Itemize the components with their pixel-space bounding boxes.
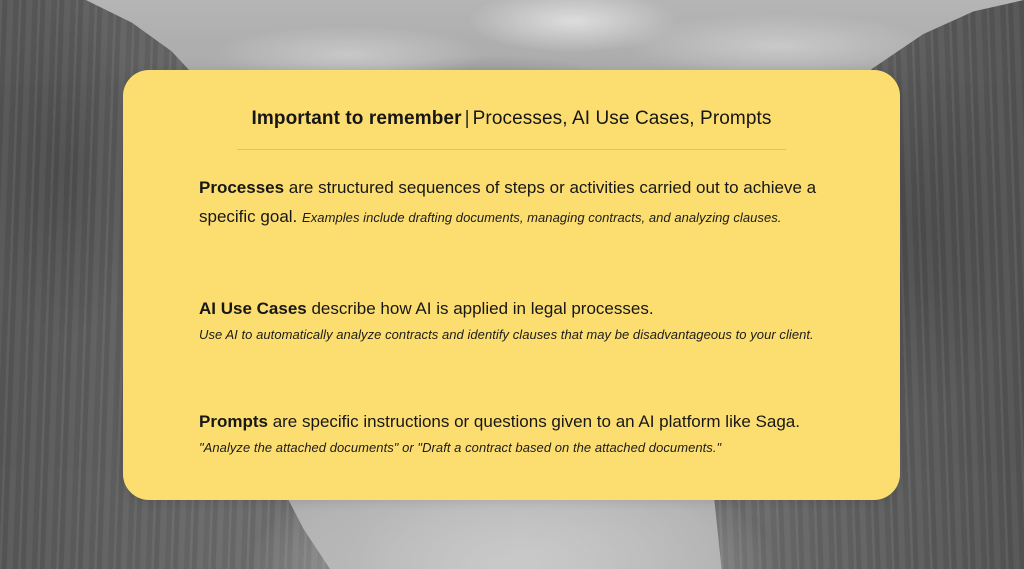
slide-screen: Important to remember|Processes, AI Use … <box>0 0 1024 569</box>
definition-lead-ai-use-cases: AI Use Cases <box>199 299 307 318</box>
card-title-rest: Processes, AI Use Cases, Prompts <box>473 108 772 129</box>
card-body: Processes are structured sequences of st… <box>199 173 840 458</box>
card-title: Important to remember|Processes, AI Use … <box>123 107 900 131</box>
definition-note-processes: Examples include drafting documents, man… <box>302 210 781 225</box>
definition-lead-processes: Processes <box>199 178 284 197</box>
definition-main-ai-use-cases: AI Use Cases describe how AI is applied … <box>199 294 840 323</box>
definition-block-prompts: Prompts are specific instructions or que… <box>199 407 840 458</box>
definition-block-ai-use-cases: AI Use Cases describe how AI is applied … <box>199 294 840 345</box>
block-spacer-2 <box>199 345 840 407</box>
info-card: Important to remember|Processes, AI Use … <box>123 70 900 500</box>
definition-body-ai-use-cases: describe how AI is applied in legal proc… <box>307 299 654 318</box>
card-title-strong: Important to remember <box>252 108 462 129</box>
block-spacer-1 <box>199 232 840 294</box>
card-title-separator: | <box>462 108 473 129</box>
definition-main-prompts: Prompts are specific instructions or que… <box>199 407 840 436</box>
definition-main-processes: Processes are structured sequences of st… <box>199 173 840 232</box>
definition-note-prompts: "Analyze the attached documents" or "Dra… <box>199 438 840 458</box>
definition-lead-prompts: Prompts <box>199 412 268 431</box>
title-divider <box>237 149 786 150</box>
definition-note-ai-use-cases: Use AI to automatically analyze contract… <box>199 325 840 345</box>
definition-block-processes: Processes are structured sequences of st… <box>199 173 840 232</box>
definition-body-prompts: are specific instructions or questions g… <box>268 412 800 431</box>
